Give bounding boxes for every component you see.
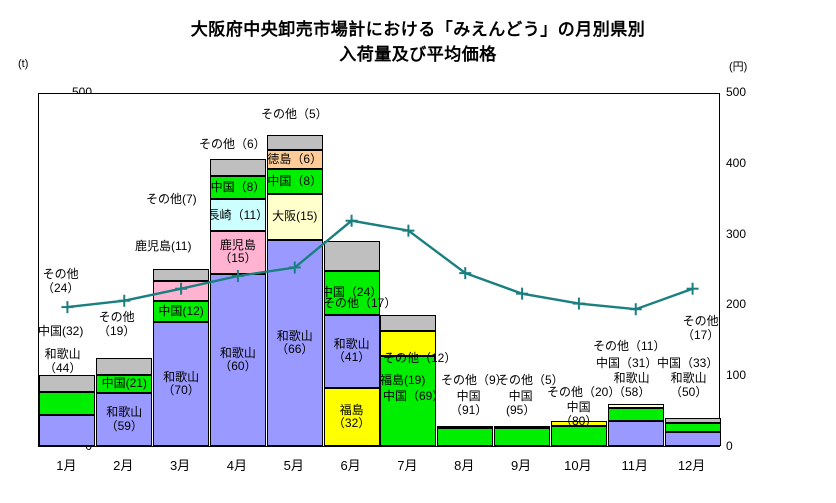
callout-c7-sonota: その他（12） [383,352,456,366]
right-tick-label: 0 [726,440,766,452]
price-marker-2[interactable] [118,295,130,307]
price-marker-10[interactable] [573,298,585,310]
x-label-11: 11月 [606,455,663,474]
price-marker-9[interactable] [516,288,528,300]
chart-container: 大阪府中央卸売市場計における「みえんどう」の月別県別 入荷量及び平均価格 (t)… [0,0,836,503]
price-marker-12[interactable] [687,283,699,295]
callout-c11-chugoku: 中国（31） [596,357,657,371]
callout-c12-sonota: その他（17） [682,315,719,343]
callout-c1-sonota: その他（24） [42,268,79,296]
x-label-4: 4月 [209,455,266,474]
right-tick-label: 300 [726,228,766,240]
x-label-2: 2月 [95,455,152,474]
callout-c7-chugoku: 中国（69） [383,390,444,404]
callout-c6-sonota: その他（17） [323,297,396,311]
price-marker-1[interactable] [61,301,73,313]
x-label-10: 10月 [550,455,607,474]
x-label-9: 9月 [493,455,550,474]
x-label-8: 8月 [436,455,493,474]
x-label-12: 12月 [663,455,720,474]
price-marker-3[interactable] [175,283,187,295]
x-label-7: 7月 [379,455,436,474]
title-line-2: 入荷量及び平均価格 [0,43,836,68]
callout-c3-kagoshima: 鹿児島(11) [135,240,191,254]
callout-c9-chugoku: 中国(95） [506,390,535,418]
callout-c4-sonota: その他（6） [199,138,266,152]
right-axis-unit: (円) [729,58,747,74]
x-label-5: 5月 [265,455,322,474]
callout-c12-chugoku: 中国（33） [657,357,718,371]
right-tick-label: 400 [726,157,766,169]
callout-c2-sonota: その他（19） [98,311,135,339]
price-marker-4[interactable] [232,270,244,282]
x-label-3: 3月 [152,455,209,474]
callout-c1-wakayama: 和歌山（44） [44,348,81,376]
x-label-1: 1月 [38,455,95,474]
price-marker-11[interactable] [630,303,642,315]
callout-c5-sonota: その他（5） [261,108,328,122]
callout-c7-fukushima: 福島(19) [380,374,425,388]
callout-c1-chugoku: 中国(32) [38,325,83,339]
callout-c12-wakayama: 和歌山（50） [670,372,707,400]
callout-c8-chugoku: 中国（91） [450,390,487,418]
right-tick-label: 200 [726,298,766,310]
chart-title: 大阪府中央卸売市場計における「みえんどう」の月別県別 入荷量及び平均価格 [0,18,836,67]
callout-c11-wakayama: 和歌山（58） [613,372,650,400]
title-line-1: 大阪府中央卸売市場計における「みえんどう」の月別県別 [191,20,646,39]
callout-c3-sonota: その他(7) [146,193,197,207]
right-tick-label: 100 [726,369,766,381]
callout-c11-sonota: その他（11） [593,340,665,354]
callout-c10-chugoku: 中国（80） [560,401,597,429]
x-label-6: 6月 [322,455,379,474]
callout-c10-sonota: その他（20） [547,386,620,400]
left-axis-unit: (t) [18,58,28,70]
right-tick-label: 500 [726,86,766,98]
